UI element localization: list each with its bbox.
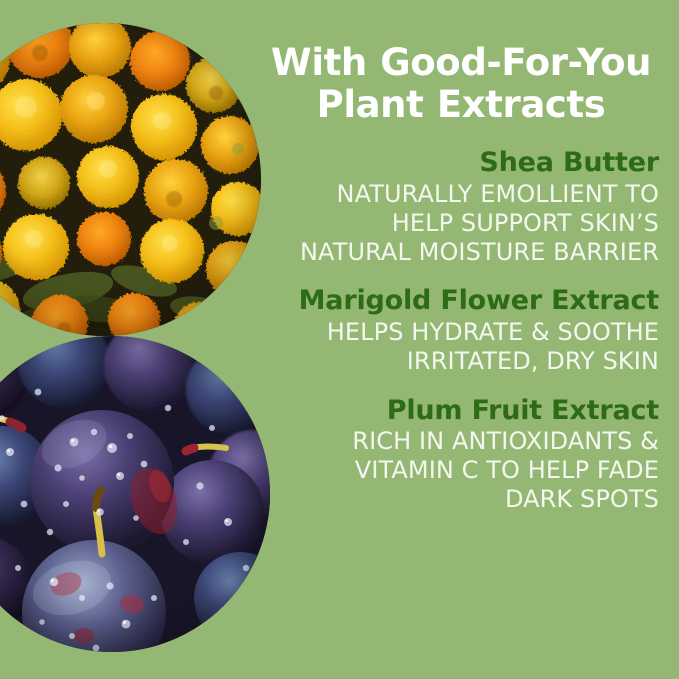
ingredient-name-shea-butter: Shea Butter <box>263 148 659 178</box>
marigold-photo-medallion <box>0 23 261 336</box>
description-line: IRRITATED, DRY SKIN <box>263 347 659 376</box>
description-line: VITAMIN C TO HELP FADE <box>263 456 659 485</box>
ingredient-block-shea-butter: Shea Butter NATURALLY EMOLLIENT TO HELP … <box>263 148 659 266</box>
ingredient-description-shea-butter: NATURALLY EMOLLIENT TO HELP SUPPORT SKIN… <box>263 180 659 266</box>
headline-line-2: Plant Extracts <box>317 83 606 126</box>
ingredient-description-marigold-flower-extract: HELPS HYDRATE & SOOTHE IRRITATED, DRY SK… <box>263 318 659 376</box>
description-line: HELP SUPPORT SKIN’S <box>263 209 659 238</box>
ingredient-block-marigold-flower-extract: Marigold Flower Extract HELPS HYDRATE & … <box>263 286 659 375</box>
plum-photo-medallion <box>0 336 270 652</box>
ingredient-benefits-poster: With Good-For-You Plant Extracts Shea Bu… <box>0 0 679 679</box>
description-line: DARK SPOTS <box>263 485 659 514</box>
description-line: NATURALLY EMOLLIENT TO <box>263 180 659 209</box>
page-title: With Good-For-You Plant Extracts <box>263 42 659 126</box>
description-line: HELPS HYDRATE & SOOTHE <box>263 318 659 347</box>
ingredient-name-plum-fruit-extract: Plum Fruit Extract <box>263 396 659 426</box>
ingredient-block-plum-fruit-extract: Plum Fruit Extract RICH IN ANTIOXIDANTS … <box>263 396 659 514</box>
headline-line-1: With Good-For-You <box>271 41 651 84</box>
plums-photo <box>0 336 270 652</box>
description-line: NATURAL MOISTURE BARRIER <box>263 238 659 267</box>
ingredient-name-marigold-flower-extract: Marigold Flower Extract <box>263 286 659 316</box>
text-column: With Good-For-You Plant Extracts Shea Bu… <box>263 42 659 514</box>
ingredient-description-plum-fruit-extract: RICH IN ANTIOXIDANTS & VITAMIN C TO HELP… <box>263 427 659 513</box>
marigold-flowers-photo <box>0 23 261 336</box>
description-line: RICH IN ANTIOXIDANTS & <box>263 427 659 456</box>
